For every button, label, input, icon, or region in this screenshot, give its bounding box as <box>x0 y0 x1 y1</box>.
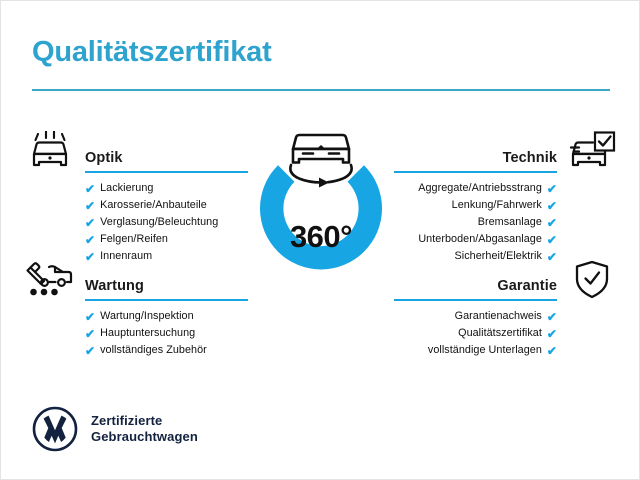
volkswagen-logo <box>32 406 78 452</box>
section-garantie: Garantie Garantienachweis✔ Qualitätszert… <box>394 259 619 359</box>
list-item-label: Wartung/Inspektion <box>100 308 194 325</box>
check-icon: ✔ <box>85 183 95 195</box>
section-technik-title: Technik <box>503 150 557 166</box>
check-icon: ✔ <box>85 217 95 229</box>
certificate-page: Qualitätszertifikat <box>0 0 640 480</box>
list-item: Garantienachweis✔ <box>394 308 619 325</box>
list-item: ✔Hauptuntersuchung <box>23 325 248 342</box>
list-item-label: Hauptuntersuchung <box>100 325 195 342</box>
section-technik-underline <box>394 171 557 173</box>
footer-line-2: Gebrauchtwagen <box>91 429 198 445</box>
list-item-label: Verglasung/Beleuchtung <box>100 214 218 231</box>
check-icon: ✔ <box>547 311 557 323</box>
list-item-label: Aggregate/Antriebsstrang <box>418 180 542 197</box>
section-optik-title: Optik <box>85 150 123 166</box>
section-wartung-header: Wartung <box>23 259 248 303</box>
section-wartung: Wartung ✔Wartung/Inspektion ✔Hauptunters… <box>23 259 248 359</box>
shield-check-icon <box>567 259 617 301</box>
section-optik: Optik ✔Lackierung ✔Karosserie/Anbauteile… <box>23 131 248 265</box>
list-item-label: Unterboden/Abgasanlage <box>418 231 542 248</box>
list-item-label: Qualitätszertifikat <box>458 325 542 342</box>
section-wartung-title: Wartung <box>85 278 144 294</box>
list-item: ✔Felgen/Reifen <box>23 231 248 248</box>
list-item: Bremsanlage✔ <box>394 214 619 231</box>
footer-brand-text: Zertifizierte Gebrauchtwagen <box>91 413 198 445</box>
section-technik-header: Technik <box>394 131 619 175</box>
section-garantie-list: Garantienachweis✔ Qualitätszertifikat✔ v… <box>394 308 619 359</box>
section-optik-header: Optik <box>23 131 248 175</box>
list-item: ✔Verglasung/Beleuchtung <box>23 214 248 231</box>
list-item: Lenkung/Fahrwerk✔ <box>394 197 619 214</box>
list-item-label: Bremsanlage <box>478 214 542 231</box>
list-item-label: Felgen/Reifen <box>100 231 168 248</box>
list-item: ✔vollständiges Zubehör <box>23 342 248 359</box>
list-item-label: Lackierung <box>100 180 153 197</box>
section-optik-list: ✔Lackierung ✔Karosserie/Anbauteile ✔Verg… <box>23 180 248 265</box>
check-icon: ✔ <box>547 345 557 357</box>
section-garantie-underline <box>394 299 557 301</box>
check-icon: ✔ <box>85 234 95 246</box>
check-icon: ✔ <box>85 311 95 323</box>
section-garantie-title: Garantie <box>497 278 557 294</box>
section-wartung-underline <box>85 299 248 301</box>
car-checkbox-icon <box>567 131 617 173</box>
check-icon: ✔ <box>85 328 95 340</box>
list-item-label: Lenkung/Fahrwerk <box>452 197 542 214</box>
list-item: Aggregate/Antriebsstrang✔ <box>394 180 619 197</box>
car-polish-shine-icon <box>25 131 75 173</box>
list-item-label: Karosserie/Anbauteile <box>100 197 207 214</box>
section-technik-list: Aggregate/Antriebsstrang✔ Lenkung/Fahrwe… <box>394 180 619 265</box>
check-icon: ✔ <box>547 328 557 340</box>
check-icon: ✔ <box>547 234 557 246</box>
section-wartung-list: ✔Wartung/Inspektion ✔Hauptuntersuchung ✔… <box>23 308 248 359</box>
list-item: ✔Lackierung <box>23 180 248 197</box>
list-item: ✔Karosserie/Anbauteile <box>23 197 248 214</box>
check-icon: ✔ <box>547 183 557 195</box>
page-title: Qualitätszertifikat <box>32 36 272 69</box>
badge-center-label: 360° <box>235 219 407 255</box>
list-item-label: vollständiges Zubehör <box>100 342 207 359</box>
section-optik-underline <box>85 171 248 173</box>
footer-brand: Zertifizierte Gebrauchtwagen <box>32 406 198 452</box>
list-item-label: vollständige Unterlagen <box>428 342 542 359</box>
section-technik: Technik Aggregate/Antriebsstrang✔ Lenkun… <box>394 131 619 265</box>
badge-360-gebrauchtwagen-check: Gebrauchtwagen-Check 360° <box>235 123 407 323</box>
list-item-label: Garantienachweis <box>455 308 542 325</box>
list-item: Unterboden/Abgasanlage✔ <box>394 231 619 248</box>
list-item: ✔Wartung/Inspektion <box>23 308 248 325</box>
title-divider <box>32 89 610 91</box>
footer-line-1: Zertifizierte <box>91 413 198 429</box>
check-icon: ✔ <box>85 345 95 357</box>
list-item: Qualitätszertifikat✔ <box>394 325 619 342</box>
check-icon: ✔ <box>547 217 557 229</box>
section-garantie-header: Garantie <box>394 259 619 303</box>
check-icon: ✔ <box>547 200 557 212</box>
car-service-pen-icon <box>25 259 75 301</box>
list-item: vollständige Unterlagen✔ <box>394 342 619 359</box>
check-icon: ✔ <box>85 200 95 212</box>
car-front-rotate-icon <box>290 135 351 188</box>
